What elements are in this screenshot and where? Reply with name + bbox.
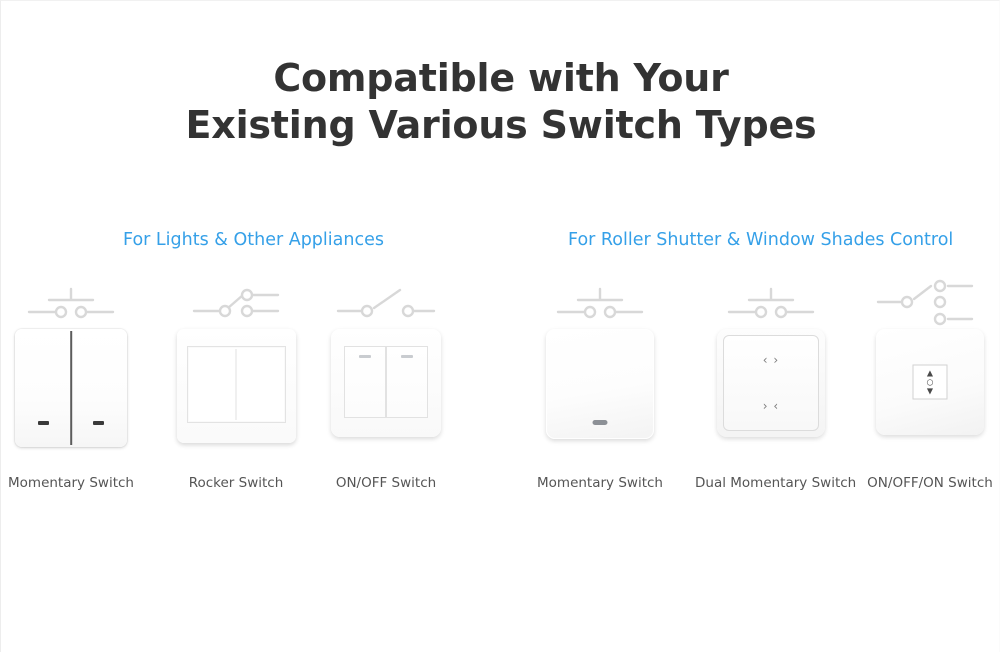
shutter-open-icon: ‹ › [724,353,818,367]
switch-caption: Momentary Switch [524,475,676,491]
switch-caption: Rocker Switch [160,475,312,491]
switch-item-rocker: Rocker Switch [160,277,312,491]
switch-item-onoffon: ▲ ○ ▼ ON/OFF/ON Switch [854,277,1000,491]
section-title-lights: For Lights & Other Appliances [123,230,384,250]
switch-item-momentary-lights: Momentary Switch [0,277,147,491]
section-title-roller-shutter: For Roller Shutter & Window Shades Contr… [568,230,953,250]
switch-caption: Dual Momentary Switch [695,475,847,491]
three-position-changeover-switch-symbol [854,277,1000,329]
panel-inner: ‹ › › ‹ [723,335,819,431]
indicator-window-right [401,355,413,358]
switch-seam [70,331,72,445]
switch-photo-roller-shutter-plate: ▲ ○ ▼ [854,329,1000,459]
page-title-line-1: Compatible with Your [273,56,728,100]
switch-photo-rocker [160,329,312,459]
switch-photo-onoff-two-gang [310,329,462,459]
switch-caption: Momentary Switch [0,475,147,491]
switch-photo-single-gang-momentary [524,329,676,459]
indicator-led-left [38,421,49,425]
shutter-up-icon: ▲ [927,369,933,377]
shutter-close-icon: › ‹ [724,399,818,413]
rocker-paddles [187,346,286,423]
indicator-led-right [93,421,104,425]
switch-caption: ON/OFF Switch [310,475,462,491]
page-title: Compatible with Your Existing Various Sw… [1,55,1000,149]
page-title-line-2: Existing Various Switch Types [1,102,1000,149]
switch-caption: ON/OFF/ON Switch [854,475,1000,491]
indicator-window-left [359,355,371,358]
shutter-keypad: ▲ ○ ▼ [913,365,948,400]
rocker-paddle-left [344,346,386,418]
switch-photo-momentary-two-gang [0,329,147,459]
push-button-switch-symbol [0,277,147,329]
indicator-led [593,420,608,425]
push-button-switch-symbol [695,277,847,329]
switch-item-dual-momentary: ‹ › › ‹ Dual Momentary Switch [695,277,847,491]
product-infographic-page: Compatible with Your Existing Various Sw… [0,0,1000,652]
shutter-stop-icon: ○ [927,378,934,386]
switch-item-onoff: ON/OFF Switch [310,277,462,491]
shutter-down-icon: ▼ [927,387,933,395]
switch-types-row: Momentary Switch [1,277,1000,507]
switch-photo-dual-momentary: ‹ › › ‹ [695,329,847,459]
push-button-switch-symbol [524,277,676,329]
changeover-rocker-switch-symbol [160,277,312,329]
rocker-paddle-right [386,346,428,418]
spst-open-switch-symbol [310,277,462,329]
switch-item-momentary-shutter: Momentary Switch [524,277,676,491]
